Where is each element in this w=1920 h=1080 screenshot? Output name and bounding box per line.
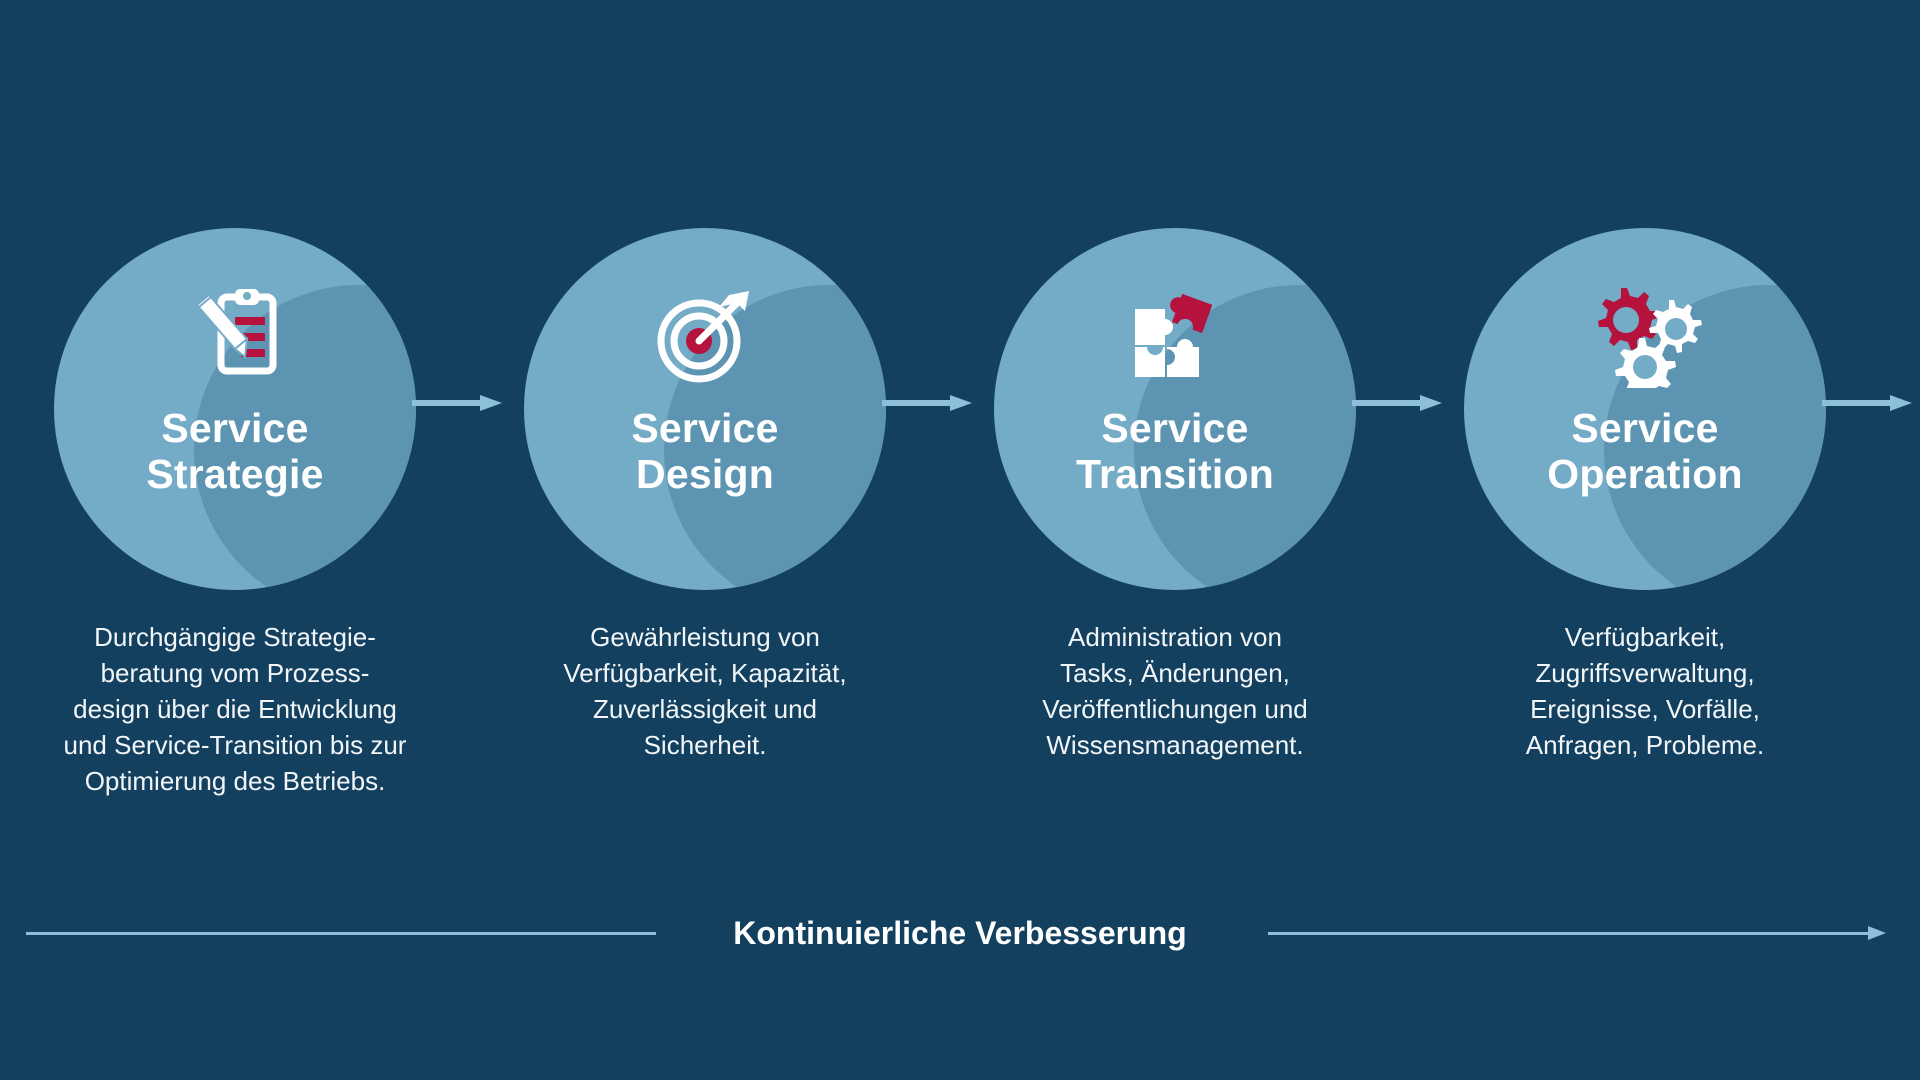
stage-description-service-strategie: Durchgängige Strategie- beratung vom Pro… <box>10 620 460 799</box>
arrow-shaft <box>412 400 484 406</box>
arrow-strategie-to-design <box>412 395 502 411</box>
stage-column-service-operation: Service Operation Verfügbarkeit, Zugriff… <box>1410 0 1880 830</box>
continuous-improvement-line-right <box>1268 932 1870 935</box>
description-line: Anfragen, Probleme. <box>1420 728 1870 764</box>
gears-icon <box>1585 280 1705 390</box>
stage-columns: Service Strategie Durchgängige Strategie… <box>0 0 1920 830</box>
stage-title-service-design: Service Design <box>524 406 886 498</box>
description-line: Gewährleistung von <box>480 620 930 656</box>
description-line: Ereignisse, Vorfälle, <box>1420 692 1870 728</box>
arrow-head <box>1890 395 1912 411</box>
title-line: Design <box>524 452 886 498</box>
stage-description-service-transition: Administration von Tasks, Änderungen, Ve… <box>950 620 1400 764</box>
description-line: Veröffentlichungen und <box>950 692 1400 728</box>
clipboard-pencil-icon <box>175 280 295 390</box>
stage-column-service-design: Service Design Gewährleistung von Verfüg… <box>470 0 940 830</box>
title-line: Service <box>994 406 1356 452</box>
description-line: Zuverlässigkeit und <box>480 692 930 728</box>
stage-title-service-operation: Service Operation <box>1464 406 1826 498</box>
arrow-head <box>950 395 972 411</box>
title-line: Transition <box>994 452 1356 498</box>
stage-circle-service-operation[interactable]: Service Operation <box>1464 228 1826 590</box>
title-line: Service <box>54 406 416 452</box>
arrow-shaft <box>1352 400 1424 406</box>
title-line: Strategie <box>54 452 416 498</box>
arrow-transition-to-operation <box>1352 395 1442 411</box>
title-line: Service <box>1464 406 1826 452</box>
description-line: Wissensmanagement. <box>950 728 1400 764</box>
arrow-head <box>480 395 502 411</box>
description-line: Administration von <box>950 620 1400 656</box>
stage-description-service-operation: Verfügbarkeit, Zugriffsverwaltung, Ereig… <box>1420 620 1870 764</box>
arrow-operation-to-next <box>1822 395 1912 411</box>
arrow-shaft <box>882 400 954 406</box>
stage-description-service-design: Gewährleistung von Verfügbarkeit, Kapazi… <box>480 620 930 764</box>
description-line: Sicherheit. <box>480 728 930 764</box>
target-arrow-icon <box>645 280 765 390</box>
arrow-shaft <box>1822 400 1894 406</box>
continuous-improvement-arrow-head <box>1868 926 1886 940</box>
description-line: Tasks, Änderungen, <box>950 656 1400 692</box>
description-line: und Service-Transition bis zur <box>10 728 460 764</box>
description-line: Optimierung des Betriebs. <box>10 764 460 800</box>
stage-circle-service-design[interactable]: Service Design <box>524 228 886 590</box>
stage-column-service-transition: Service Transition Administration von Ta… <box>940 0 1410 830</box>
description-line: Zugriffsverwaltung, <box>1420 656 1870 692</box>
description-line: beratung vom Prozess- <box>10 656 460 692</box>
stage-circle-service-strategie[interactable]: Service Strategie <box>54 228 416 590</box>
stage-circle-service-transition[interactable]: Service Transition <box>994 228 1356 590</box>
description-line: design über die Entwicklung <box>10 692 460 728</box>
description-line: Verfügbarkeit, Kapazität, <box>480 656 930 692</box>
stage-title-service-transition: Service Transition <box>994 406 1356 498</box>
stage-column-service-strategie: Service Strategie Durchgängige Strategie… <box>0 0 470 830</box>
continuous-improvement-band: Kontinuierliche Verbesserung <box>0 905 1920 965</box>
puzzle-pieces-icon <box>1115 280 1235 390</box>
description-line: Durchgängige Strategie- <box>10 620 460 656</box>
title-line: Service <box>524 406 886 452</box>
arrow-head <box>1420 395 1442 411</box>
title-line: Operation <box>1464 452 1826 498</box>
arrow-design-to-transition <box>882 395 972 411</box>
itil-service-lifecycle-diagram: Service Strategie Durchgängige Strategie… <box>0 0 1920 1080</box>
description-line: Verfügbarkeit, <box>1420 620 1870 656</box>
stage-title-service-strategie: Service Strategie <box>54 406 416 498</box>
